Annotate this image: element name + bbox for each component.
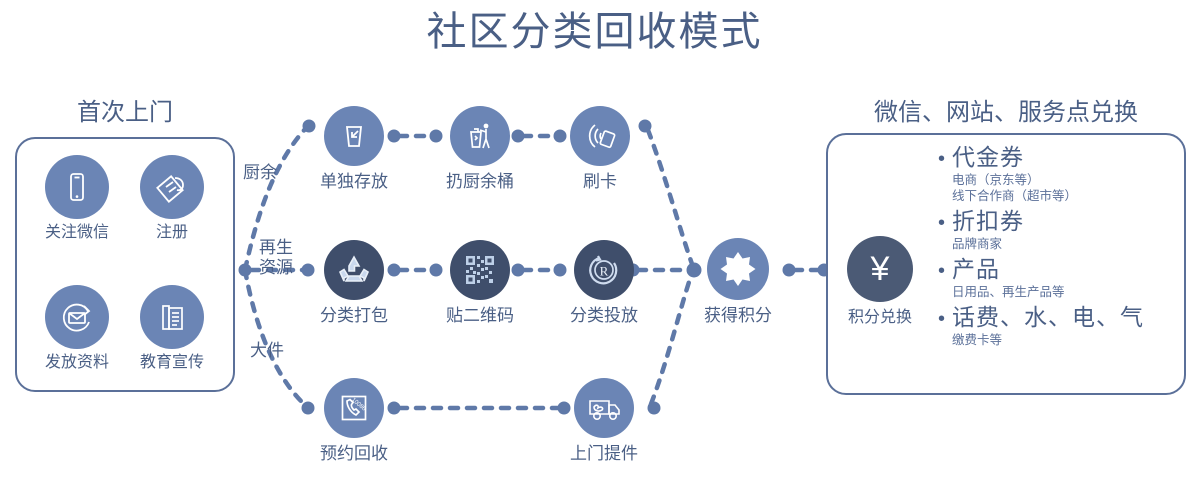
node-label: 上门提件 [570, 443, 638, 464]
node-label: 单独存放 [320, 171, 388, 192]
node-label: 积分兑换 [848, 307, 912, 328]
pickup-truck-icon [574, 378, 634, 438]
bullet-icon: • [938, 306, 952, 332]
bullet-icon: • [938, 258, 952, 284]
node-follow-wechat[interactable]: 关注微信 [45, 155, 109, 243]
node-label: 注册 [156, 222, 188, 243]
page-title: 社区分类回收模式 [0, 6, 1189, 58]
branch-label-recyclables-line1: 再生 [259, 238, 293, 258]
node-book-pickup[interactable]: 10086 预约回收 [320, 378, 388, 464]
diagram-canvas: 社区分类回收模式 [0, 0, 1189, 477]
node-points-redeem[interactable]: ¥ 积分兑换 [847, 236, 913, 328]
node-label: 分类投放 [570, 305, 638, 326]
left-panel-title: 首次上门 [15, 98, 235, 128]
reward-title: 折扣券 [952, 208, 1024, 235]
qr-code-icon [450, 240, 510, 300]
right-panel-title: 微信、网站、服务点兑换 [826, 98, 1186, 128]
svg-text:R: R [600, 264, 609, 279]
reward-subtitle: 日用品、再生产品等 [952, 284, 1178, 300]
reward-item[interactable]: • 代金券 电商（京东等） 线下合作商（超市等） [938, 144, 1178, 204]
branch-label-recyclables: 再生 资源 [259, 238, 293, 278]
reward-item[interactable]: • 话费、水、电、气 缴费卡等 [938, 304, 1178, 348]
reward-list: • 代金券 电商（京东等） 线下合作商（超市等） • 折扣券 品牌商家 • 产品 [938, 144, 1178, 352]
node-separate-storage[interactable]: 单独存放 [320, 106, 388, 192]
node-label: 获得积分 [704, 305, 772, 326]
node-label: 发放资料 [45, 352, 109, 373]
node-label: 分类打包 [320, 305, 388, 326]
node-education-campaign[interactable]: 教育宣传 [140, 285, 204, 373]
star-badge-icon [707, 238, 769, 300]
yen-icon: ¥ [847, 236, 913, 302]
node-label: 扔厨余桶 [446, 171, 514, 192]
node-label: 贴二维码 [446, 305, 514, 326]
cup-store-icon [324, 106, 384, 166]
branch-label-bulky-waste: 大件 [250, 341, 284, 361]
reward-title: 代金券 [952, 144, 1024, 171]
node-earn-points[interactable]: 获得积分 [704, 238, 772, 326]
node-label: 预约回收 [320, 443, 388, 464]
reward-title: 话费、水、电、气 [952, 304, 1144, 331]
node-registration[interactable]: 注册 [140, 155, 204, 243]
recycling-drop-icon: R [574, 240, 634, 300]
branch-label-recyclables-line2: 资源 [259, 258, 293, 278]
card-swipe-icon [570, 106, 630, 166]
node-throw-kitchen-bin[interactable]: 扔厨余桶 [446, 106, 514, 192]
phone-booking-icon: 10086 [324, 378, 384, 438]
reward-subtitle: 品牌商家 [952, 236, 1178, 252]
reward-title: 产品 [952, 256, 1000, 283]
node-attach-qr-code[interactable]: 贴二维码 [446, 240, 514, 326]
node-door-to-door-pickup[interactable]: 上门提件 [570, 378, 638, 464]
reward-item[interactable]: • 折扣券 品牌商家 [938, 208, 1178, 252]
smartphone-icon [45, 155, 109, 219]
node-label: 教育宣传 [140, 352, 204, 373]
yen-glyph: ¥ [871, 252, 890, 286]
reward-subtitle: 缴费卡等 [952, 332, 1178, 348]
node-distribute-materials[interactable]: 发放资料 [45, 285, 109, 373]
node-label: 刷卡 [583, 171, 617, 192]
branch-label-kitchen-waste: 厨余 [243, 163, 277, 183]
throw-trash-icon [450, 106, 510, 166]
node-swipe-card[interactable]: 刷卡 [570, 106, 630, 192]
reward-item[interactable]: • 产品 日用品、再生产品等 [938, 256, 1178, 300]
node-sort-and-pack[interactable]: 分类打包 [320, 240, 388, 326]
education-book-icon [140, 285, 204, 349]
node-sorted-drop-off[interactable]: R 分类投放 [570, 240, 638, 326]
bullet-icon: • [938, 210, 952, 236]
node-label: 关注微信 [45, 222, 109, 243]
reward-subtitle: 电商（京东等） [952, 172, 1178, 188]
recycle-icon [324, 240, 384, 300]
distribute-materials-icon [45, 285, 109, 349]
registration-form-icon [140, 155, 204, 219]
reward-subtitle: 线下合作商（超市等） [952, 188, 1178, 204]
bullet-icon: • [938, 146, 952, 172]
